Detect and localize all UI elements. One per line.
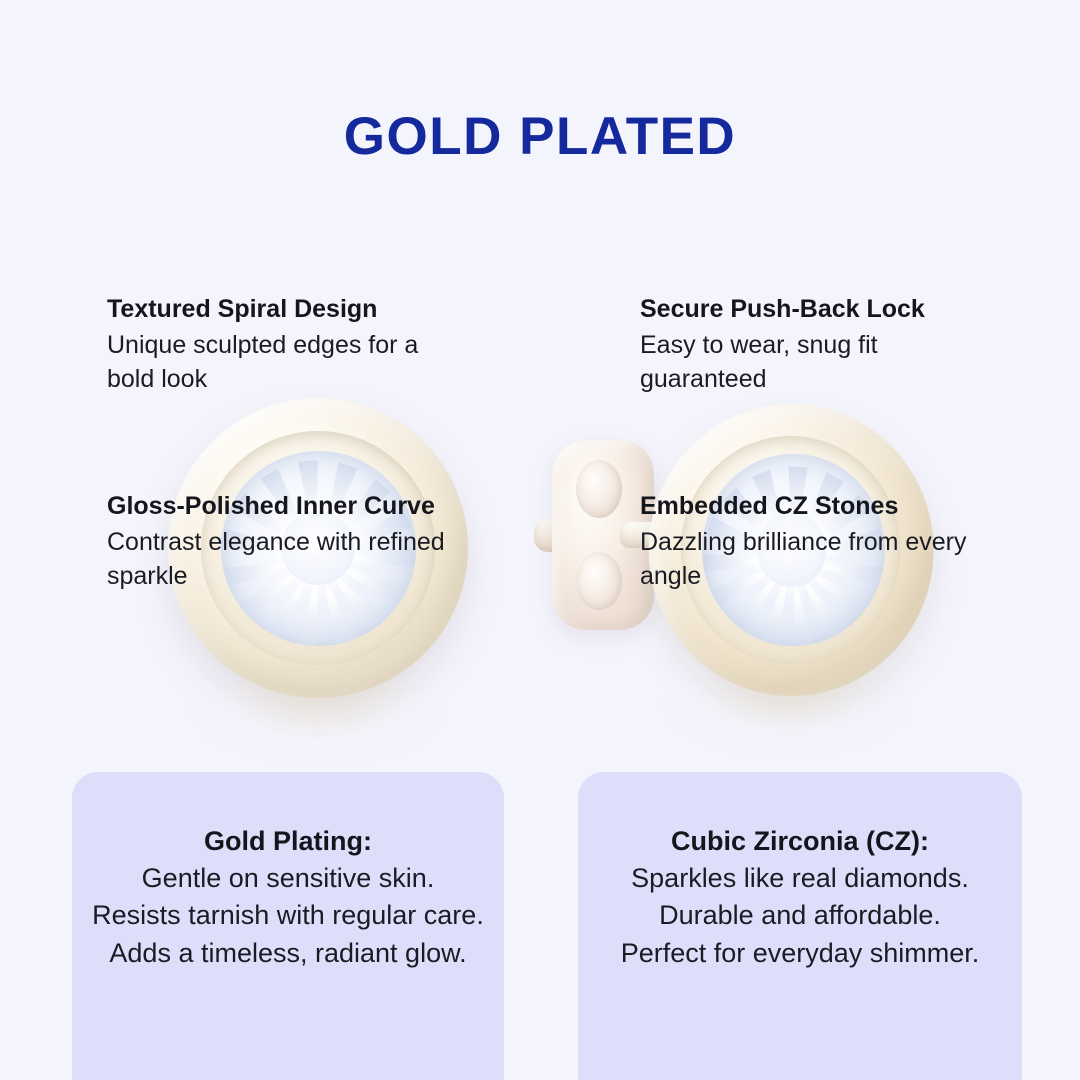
info-card-title: Cubic Zirconia (CZ):	[592, 824, 1008, 860]
info-card-line: Resists tarnish with regular care.	[86, 897, 490, 935]
info-card-line: Gentle on sensitive skin.	[86, 860, 490, 898]
info-card-title: Gold Plating:	[86, 824, 490, 860]
infographic-canvas: GOLD PLATED Textured Spiral Design Uniqu…	[0, 0, 1080, 1080]
info-card-cubic-zirconia: Cubic Zirconia (CZ): Sparkles like real …	[578, 772, 1022, 1080]
info-card-line: Perfect for everyday shimmer.	[592, 935, 1008, 973]
info-card-line: Adds a timeless, radiant glow.	[86, 935, 490, 973]
info-card-line: Durable and affordable.	[592, 897, 1008, 935]
info-card-line: Sparkles like real diamonds.	[592, 860, 1008, 898]
info-card-row: Gold Plating: Gentle on sensitive skin. …	[0, 0, 1080, 1080]
info-card-gold-plating: Gold Plating: Gentle on sensitive skin. …	[72, 772, 504, 1080]
